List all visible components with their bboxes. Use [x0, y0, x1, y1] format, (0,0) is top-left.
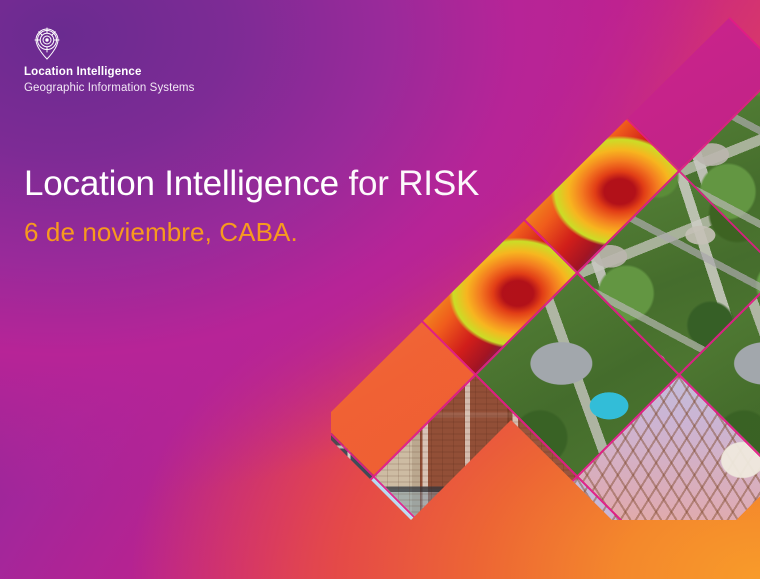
page-title-strong: Location Intelligence: [24, 164, 339, 203]
brand-secondary-label: Geographic Information Systems: [24, 80, 194, 96]
page-subtitle: 6 de noviembre, CABA.: [24, 216, 479, 248]
headline-block: Location Intelligence for RISK 6 de novi…: [24, 162, 479, 248]
brand-lockup: Location Intelligence Geographic Informa…: [24, 26, 194, 96]
location-pin-radar-icon: [32, 26, 62, 60]
slide-canvas: Location Intelligence Geographic Informa…: [0, 0, 760, 579]
page-title: Location Intelligence for RISK: [24, 162, 479, 206]
page-title-light: for RISK: [339, 164, 479, 203]
brand-primary-label: Location Intelligence: [24, 65, 194, 80]
